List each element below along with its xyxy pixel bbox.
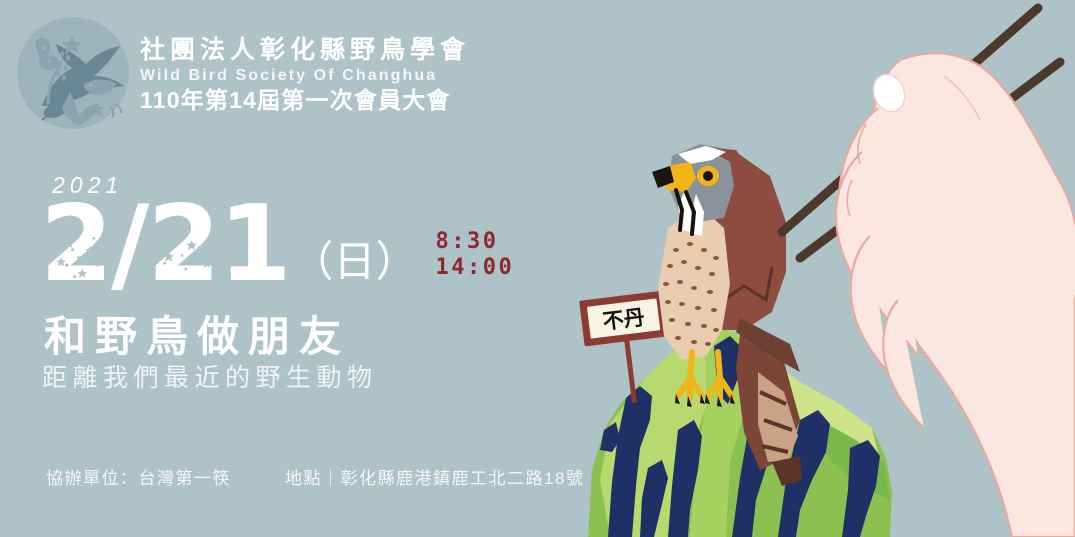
header-text-group: 社團法人彰化縣野鳥學會 Wild Bird Society Of Changhu… (140, 14, 470, 115)
page-subtitle: 距離我們最近的野生動物 (42, 358, 378, 394)
time-start: 8:30 (436, 229, 515, 255)
event-session-line: 110年第14屆第一次會員大會 (140, 86, 470, 115)
footer-info: 協辦單位：台灣第一筷 地點｜彰化縣鹿港鎮鹿工北二路18號 (46, 464, 584, 489)
sign-label: 不丹 (601, 305, 646, 334)
crested-goshawk-icon (652, 144, 802, 486)
time-range: 8:30 14:00 (436, 229, 515, 281)
header-block: 社團法人彰化縣野鳥學會 Wild Bird Society Of Changhu… (14, 14, 470, 132)
chopsticks-icon (782, 8, 1060, 258)
event-date: 2/21 (40, 196, 290, 293)
org-name-zh: 社團法人彰化縣野鳥學會 (140, 36, 470, 66)
fingernail (868, 70, 910, 116)
venue-label: 地點｜彰化縣鹿港鎮鹿工北二路18號 (285, 464, 584, 489)
cohost-label: 協辦單位：台灣第一筷 (46, 464, 231, 489)
event-poster: 不丹 (0, 0, 1075, 537)
time-end: 14:00 (436, 255, 515, 281)
hand-holding-chopsticks-icon (836, 53, 1075, 537)
event-date-text: 2/21 (40, 183, 290, 305)
bhutan-sign-icon: 不丹 (579, 291, 676, 408)
date-row: 2/21 (40, 196, 514, 293)
wild-bird-society-logo-icon (14, 14, 132, 132)
green-mountain-icon (588, 326, 892, 537)
page-title: 和野鳥做朋友 (44, 303, 350, 364)
org-name-en: Wild Bird Society Of Changhua (140, 66, 470, 87)
weekday-label: （日） (292, 241, 418, 283)
